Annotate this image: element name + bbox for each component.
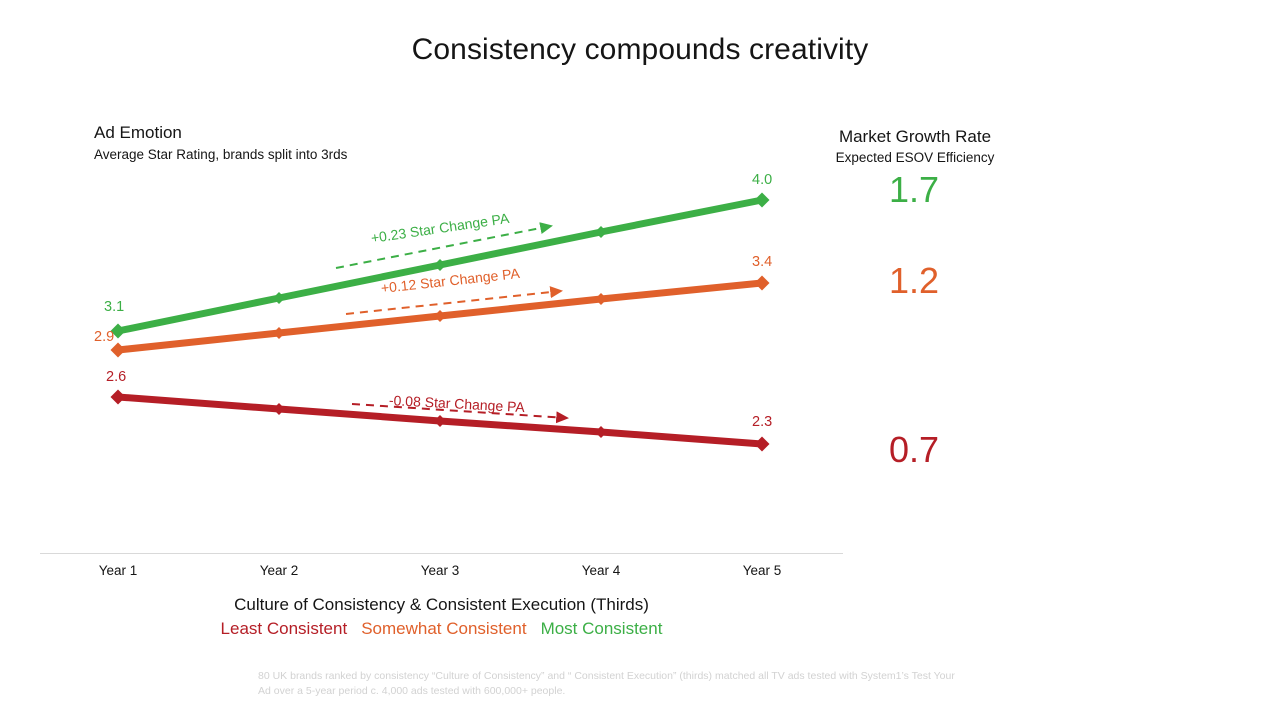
x-tick-year-5: Year 5 <box>702 563 822 578</box>
ad-emotion-subheading: Average Star Rating, brands split into 3… <box>94 145 347 164</box>
ad-emotion-heading: Ad Emotion <box>94 122 347 144</box>
legend-item-most-consistent: Most Consistent <box>541 619 663 638</box>
kpi-somewhat-consistent: 1.2 <box>824 263 1004 299</box>
left-header-block: Ad Emotion Average Star Rating, brands s… <box>94 122 347 164</box>
chart-legend: Culture of Consistency & Consistent Exec… <box>40 593 843 640</box>
kpi-least-consistent: 0.7 <box>824 432 1004 468</box>
annotation-green: +0.23 Star Change PA <box>370 210 510 246</box>
x-tick-year-3: Year 3 <box>380 563 500 578</box>
market-growth-heading: Market Growth Rate <box>790 126 1040 148</box>
legend-item-somewhat-consistent: Somewhat Consistent <box>361 619 526 638</box>
datapoint-label-green-start: 3.1 <box>104 299 124 315</box>
datapoint-label-red-end: 2.3 <box>752 414 772 430</box>
datapoint-label-orange-start: 2.9 <box>94 329 114 345</box>
footnote: 80 UK brands ranked by consistency “Cult… <box>258 669 958 699</box>
right-header-block: Market Growth Rate Expected ESOV Efficie… <box>790 126 1040 167</box>
market-growth-subheading: Expected ESOV Efficiency <box>790 148 1040 167</box>
legend-items: Least ConsistentSomewhat ConsistentMost … <box>40 618 843 640</box>
page-title: Consistency compounds creativity <box>0 33 1280 67</box>
series-most-consistent <box>111 193 770 339</box>
slide-canvas: Consistency compounds creativity Ad Emot… <box>0 0 1280 720</box>
x-axis-line <box>40 553 843 554</box>
legend-title: Culture of Consistency & Consistent Exec… <box>40 593 843 617</box>
trend-arrow-somewhat-consistent <box>346 291 561 314</box>
annotation-orange: +0.12 Star Change PA <box>380 265 520 296</box>
datapoint-label-orange-end: 3.4 <box>752 254 772 270</box>
x-tick-year-4: Year 4 <box>541 563 661 578</box>
x-tick-year-2: Year 2 <box>219 563 339 578</box>
kpi-most-consistent: 1.7 <box>824 172 1004 208</box>
annotation-red: -0.08 Star Change PA <box>389 392 526 415</box>
datapoint-label-red-start: 2.6 <box>106 369 126 385</box>
legend-item-least-consistent: Least Consistent <box>221 619 348 638</box>
datapoint-label-green-end: 4.0 <box>752 172 772 188</box>
x-tick-year-1: Year 1 <box>58 563 178 578</box>
